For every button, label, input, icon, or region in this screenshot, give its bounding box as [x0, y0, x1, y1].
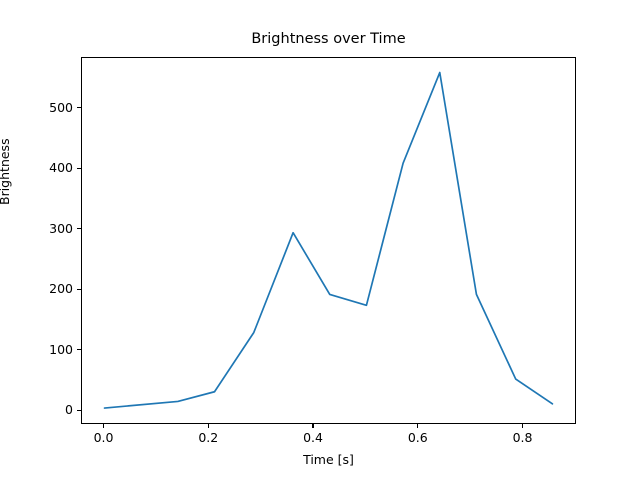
y-tick-label: 200 — [13, 282, 73, 295]
x-tick-label: 0.2 — [178, 431, 238, 444]
x-tick-mark — [417, 424, 418, 428]
y-tick-mark — [77, 107, 81, 108]
y-axis-label: Brightness — [0, 138, 12, 205]
x-tick-label: 0.4 — [283, 431, 343, 444]
x-tick-mark — [103, 424, 104, 428]
x-tick-label: 0.0 — [74, 431, 134, 444]
y-tick-mark — [77, 349, 81, 350]
x-axis-label: Time [s] — [81, 452, 576, 467]
y-tick-mark — [77, 168, 81, 169]
y-tick-label: 300 — [13, 222, 73, 235]
x-tick-label: 0.6 — [388, 431, 448, 444]
y-tick-label: 0 — [13, 403, 73, 416]
chart-figure: Brightness over Time Brightness 01002003… — [0, 0, 640, 480]
y-tick-label: 100 — [13, 343, 73, 356]
x-tick-label: 0.8 — [493, 431, 553, 444]
y-tick-mark — [77, 228, 81, 229]
x-tick-mark — [312, 424, 313, 428]
x-tick-mark — [522, 424, 523, 428]
line-series-brightness — [82, 58, 577, 425]
y-tick-mark — [77, 289, 81, 290]
y-tick-label: 400 — [13, 161, 73, 174]
plot-area — [81, 57, 576, 424]
y-tick-label: 500 — [13, 101, 73, 114]
x-tick-mark — [208, 424, 209, 428]
chart-title: Brightness over Time — [81, 30, 576, 48]
y-tick-mark — [77, 410, 81, 411]
